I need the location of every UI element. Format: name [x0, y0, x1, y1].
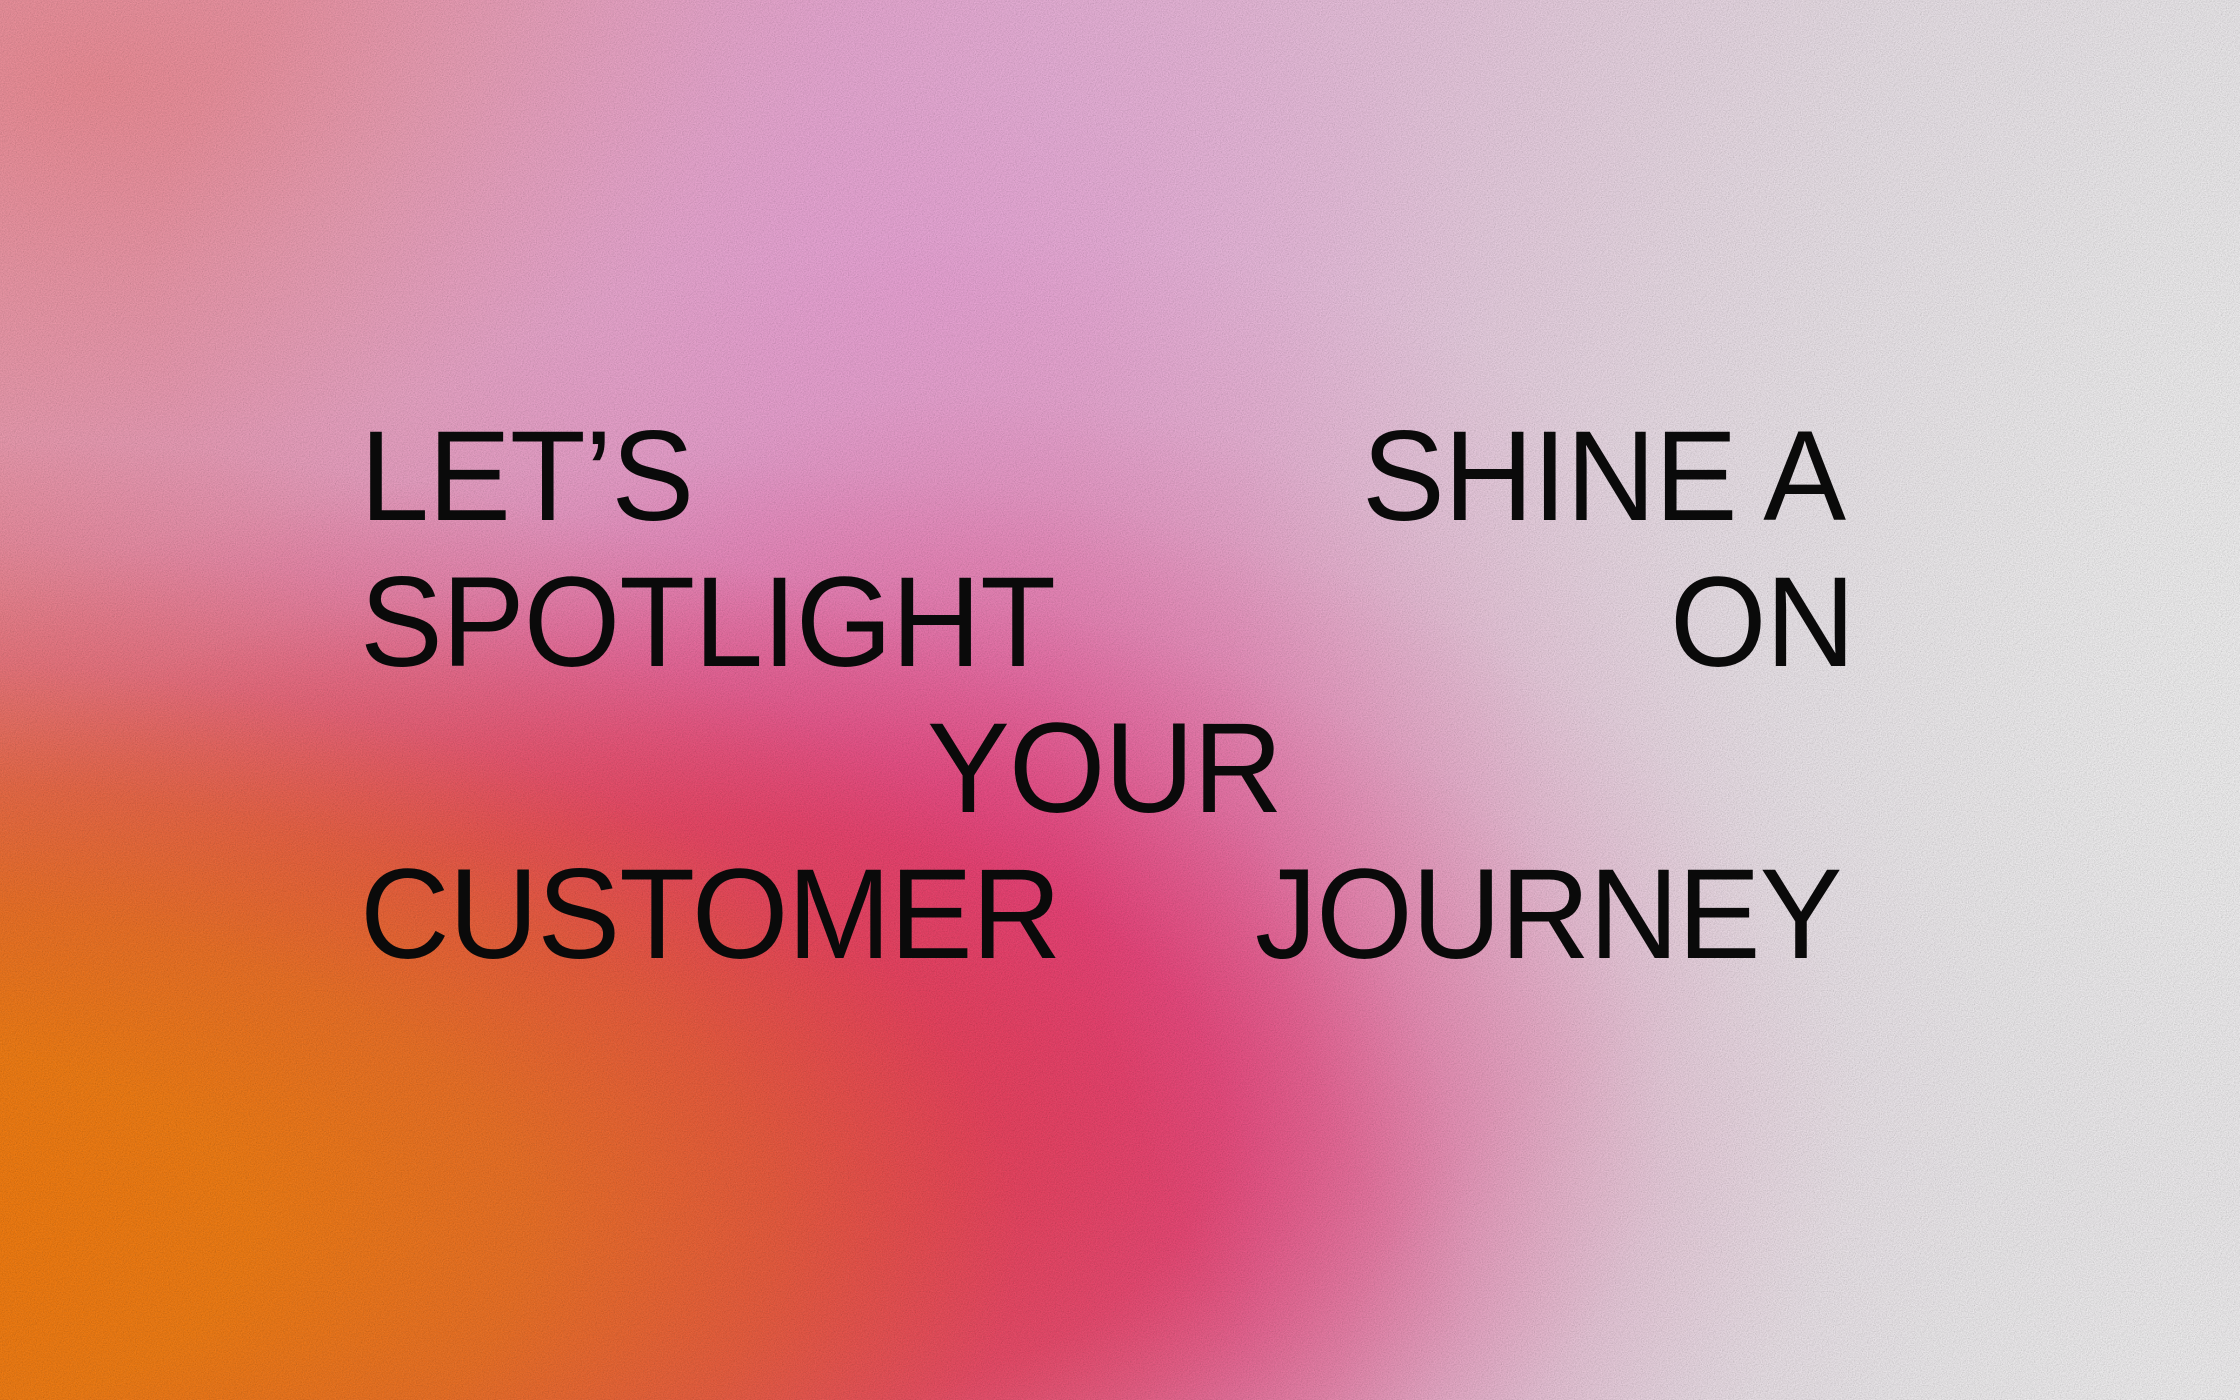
headline-line-3: YOUR	[360, 696, 1860, 842]
headline-line-4: CUSTOMER JOURNEY	[360, 842, 1860, 988]
poster-canvas: LET’S SHINE A SPOTLIGHT ON YOUR CUSTOMER…	[0, 0, 2240, 1400]
headline-line-1-left: LET’S	[360, 404, 693, 550]
headline-line-4-right: JOURNEY	[1255, 842, 1841, 988]
headline-line-2-left: SPOTLIGHT	[360, 550, 1055, 696]
headline-line-3-left: YOUR	[927, 696, 1282, 842]
headline-line-2: SPOTLIGHT ON	[360, 550, 1860, 696]
headline-line-4-left: CUSTOMER	[360, 842, 1060, 988]
headline-line-2-right: ON	[1670, 550, 1854, 696]
headline-block: LET’S SHINE A SPOTLIGHT ON YOUR CUSTOMER…	[360, 404, 1860, 988]
headline-line-1-right: SHINE A	[1362, 404, 1845, 550]
headline-line-1: LET’S SHINE A	[360, 404, 1860, 550]
